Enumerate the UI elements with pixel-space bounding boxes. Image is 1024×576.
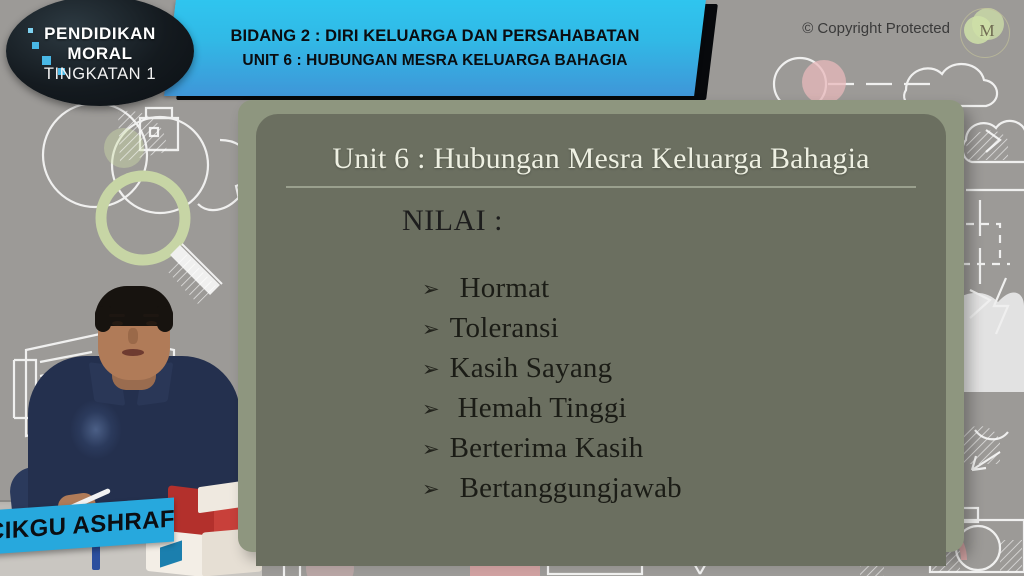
arrow-bullet-icon: ➢ [422,479,440,500]
logo-line-tingkatan: TINGKATAN 1 [44,64,156,85]
list-item-label: Toleransi [450,312,559,345]
list-item: ➢ Bertanggungjawab [422,472,920,505]
presenter-hair-side-right [157,306,173,332]
slide-stage: CIKGU ASHRAF BIDANG 2 : DIRI KELUARGA DA… [0,0,1024,576]
course-logo-badge: PENDIDIKAN MORAL TINGKATAN 1 [6,0,194,106]
presenter-video: CIKGU ASHRAF [0,276,262,576]
arrow-bullet-icon: ➢ [422,359,440,380]
list-item-label: Berterima Kasih [450,432,644,465]
arrow-bullet-icon: ➢ [422,279,440,300]
presenter-mouth [122,349,144,356]
arrow-bullet-icon: ➢ [422,319,440,340]
presenter-eye-right [146,321,157,326]
list-item: ➢ Hormat [422,272,920,305]
list-item: ➢ Berterima Kasih [422,432,920,465]
doodle-dashed-box [966,224,1000,258]
list-item-label: Hormat [460,272,550,305]
header-unit-line: UNIT 6 : HUBUNGAN MESRA KELUARGA BAHAGIA [242,52,627,70]
copyright-text: © Copyright Protected [802,20,950,37]
arrow-bullet-icon: ➢ [422,439,440,460]
list-item-label: Bertanggungjawab [460,472,682,505]
list-item: ➢ Toleransi [422,312,920,345]
slide-subtitle-nilai: NILAI : [282,204,920,238]
arrow-bullet-icon: ➢ [422,399,440,420]
list-item-label: Hemah Tinggi [458,392,627,425]
doodle-pink-circle [802,60,846,104]
presenter-hair-side-left [95,306,111,332]
presenter-nose [128,328,138,344]
header-bidang-line: BIDANG 2 : DIRI KELUARGA DAN PERSAHABATA… [231,27,640,46]
slide-panel-frame: Unit 6 : Hubungan Mesra Keluarga Bahagia… [238,100,964,552]
logo-line-moral: MORAL [67,43,132,64]
presenter-eye-left [112,321,123,326]
list-item: ➢ Hemah Tinggi [422,392,920,425]
presenter-eyebrow-left [109,314,125,317]
list-item-label: Kasih Sayang [450,352,613,385]
header-text-group: BIDANG 2 : DIRI KELUARGA DAN PERSAHABATA… [170,0,700,96]
list-item: ➢ Kasih Sayang [422,352,920,385]
logo-line-pendidikan: PENDIDIKAN [44,25,156,43]
copyright-mark-letter: M [972,16,1002,46]
doodle-magnifier [101,176,222,290]
values-list: ➢ Hormat ➢ Toleransi ➢ Kasih Sayang ➢ He… [282,272,920,505]
slide-panel: Unit 6 : Hubungan Mesra Keluarga Bahagia… [256,114,946,566]
presenter-eyebrow-right [143,314,159,317]
title-divider [286,186,916,188]
slide-title: Unit 6 : Hubungan Mesra Keluarga Bahagia [282,142,920,176]
